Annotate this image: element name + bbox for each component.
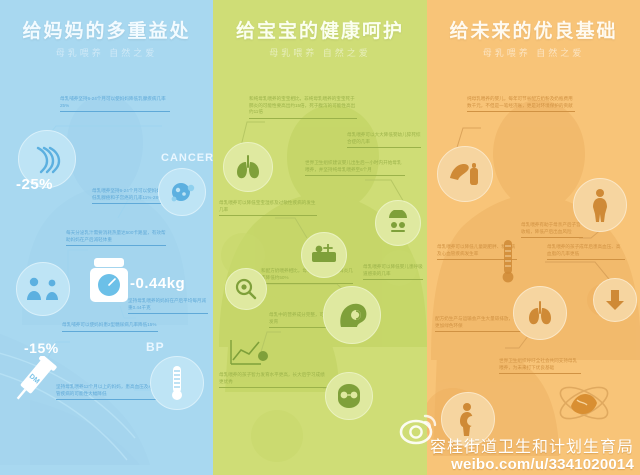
future-panel-subtitle: 母乳喂养 自然之爱	[427, 49, 640, 59]
baby-note-respiratory: 母乳喂养可以降低婴儿患呼吸道感染的几率	[363, 264, 423, 280]
future-note-cost-saving: 纯母乳喂养的婴儿，每年可节省配方奶粉及奶瓶费用数千元，不但是一笔经济账，更是对环…	[467, 96, 575, 112]
lungs-icon-badge	[513, 286, 567, 340]
baby-connector-3	[273, 216, 309, 240]
bacteria-icon	[384, 210, 412, 236]
mom-note-weight: 坚持母乳喂养的妈妈在产后平均每月减重0.44千克	[128, 298, 208, 314]
baby-note-who-recommend: 世界卫生组织建议婴儿出生后一小时内开始母乳喂养，并坚持纯母乳喂养至6个月	[305, 160, 405, 176]
lungs-icon	[525, 299, 555, 327]
weight-loss-value: -0.44kg	[130, 275, 185, 292]
earth-orbit-icon	[555, 376, 613, 430]
thermometer-icon	[169, 365, 185, 401]
eye-magnifier-icon-badge	[225, 268, 267, 310]
mom-connector-1	[46, 112, 164, 138]
lungs-icon-badge	[223, 142, 273, 192]
future-panel-header: 给未来的优良基础 母乳喂养 自然之爱	[427, 22, 640, 59]
future-note-society: 世界卫生组织呼吁全社会共同支持母乳喂养，为未来打下优良基础	[499, 358, 581, 374]
mom-panel-subtitle: 母乳喂养 自然之爱	[0, 49, 213, 59]
baby-note-pneumonia: 和纯母乳喂养的宝宝相比，非纯母乳喂养的宝宝死于肺炎的可能性要高出约15倍，死于腹…	[249, 96, 357, 119]
mom-note-cancer: 母乳喂养坚持6-24个月可以使妈妈降低乳腺癌和子宫癌的几率11%-28%	[92, 188, 166, 204]
bottle-breast-icon	[448, 160, 482, 188]
breast-cancer-reduction-value: -25%	[16, 176, 53, 193]
baby-panel-header: 给宝宝的健康呵护 母乳喂养 自然之爱	[213, 22, 427, 59]
mom-note-calories: 每天分泌乳汁需要消耗热量达500卡路里，有效帮助妈妈在产后减轻体重	[66, 230, 166, 246]
mom-panel-header: 给妈妈的多重益处 母乳喂养 自然之爱	[0, 22, 213, 59]
brain-icon-badge	[325, 372, 373, 420]
watermark-url: weibo.com/u/3341020014	[430, 457, 634, 473]
baby-note-allergy: 母乳喂养可以降低宝宝湿疹及过敏性疾病的发生几率	[219, 200, 317, 216]
panel-baby-health: 给宝宝的健康呵护 母乳喂养 自然之爱 和纯母乳喂养的宝宝相比，非纯母乳喂养的宝宝…	[213, 0, 427, 475]
baby-note-intelligence: 母乳喂养的孩子智力发育水平更高，长大后学习成绩更优秀	[219, 372, 327, 388]
ear-head-icon-badge	[323, 286, 381, 344]
watermark: 容桂街道卫生和计划生育局 weibo.com/u/3341020014	[430, 440, 634, 473]
growth-chart-icon	[227, 336, 271, 368]
down-arrow-icon-badge	[593, 278, 637, 322]
blood-pressure-tag: BP	[146, 340, 165, 354]
mom-note-diabetes: 母乳哺养可以使妈妈患2型糖尿病几率降低15%	[62, 322, 158, 332]
pregnant-woman-icon-badge	[441, 392, 495, 446]
two-people-icon-badge	[16, 262, 70, 316]
baby-bed-icon-badge	[301, 232, 347, 278]
thermometer-icon	[499, 238, 517, 286]
baby-bed-icon	[310, 244, 338, 266]
baby-note-sids: 母乳喂养可以大大降低婴幼儿猝死综合症的几率	[347, 132, 421, 148]
infographic-canvas: 给妈妈的多重益处 母乳喂养 自然之爱 母乳哺养坚持6-24个月可以使妈妈降低乳腺…	[0, 0, 640, 475]
body-icon	[588, 188, 612, 222]
body-icon-badge	[573, 178, 627, 232]
ear-head-icon	[335, 299, 369, 331]
down-arrow-icon	[605, 288, 625, 312]
watermark-organization: 容桂街道卫生和计划生育局	[430, 440, 634, 457]
mom-note-bp: 坚持母乳喂养12个月以上的妈妈，患高血压及心血管疾病的可能性大幅降低	[56, 384, 160, 400]
future-note-uterus: 母乳喂养有助于母亲产后子宫收缩，降低产后出血风险	[521, 222, 583, 238]
eye-magnifier-icon	[234, 277, 258, 301]
breast-icon	[30, 142, 64, 176]
bacteria-icon-badge	[375, 200, 421, 246]
cancer-cell-icon-badge	[158, 168, 206, 216]
diabetes-reduction-value: -15%	[24, 340, 59, 356]
thermometer-icon-badge	[150, 356, 204, 410]
weight-scale-icon	[88, 258, 130, 306]
glasses-face-icon	[334, 383, 364, 409]
mom-panel-title: 给妈妈的多重益处	[0, 22, 213, 43]
panel-mom-benefits: 给妈妈的多重益处 母乳喂养 自然之爱 母乳哺养坚持6-24个月可以使妈妈降低乳腺…	[0, 0, 213, 475]
bottle-breast-icon-badge	[437, 146, 493, 202]
two-people-icon	[26, 276, 60, 302]
cancer-tag: CANCER	[161, 152, 213, 164]
baby-panel-subtitle: 母乳喂养 自然之爱	[213, 49, 427, 59]
baby-panel-title: 给宝宝的健康呵护	[213, 22, 427, 43]
lungs-icon	[233, 153, 263, 181]
panel-future-foundation: 给未来的优良基础 母乳喂养 自然之爱 纯母乳喂养的婴儿，每年可节省配方奶粉及奶瓶…	[427, 0, 640, 475]
syringe-icon: DM	[8, 356, 66, 414]
pregnant-woman-icon	[456, 402, 480, 436]
mom-note-breast: 母乳哺养坚持6-24个月可以使妈妈降低乳腺疾病几率25%	[60, 96, 170, 112]
cancer-cell-icon	[167, 177, 197, 207]
future-note-adult-health: 母乳喂养的孩子成年后患高血压、高血脂的几率更低	[547, 244, 625, 260]
future-panel-title: 给未来的优良基础	[427, 22, 640, 43]
